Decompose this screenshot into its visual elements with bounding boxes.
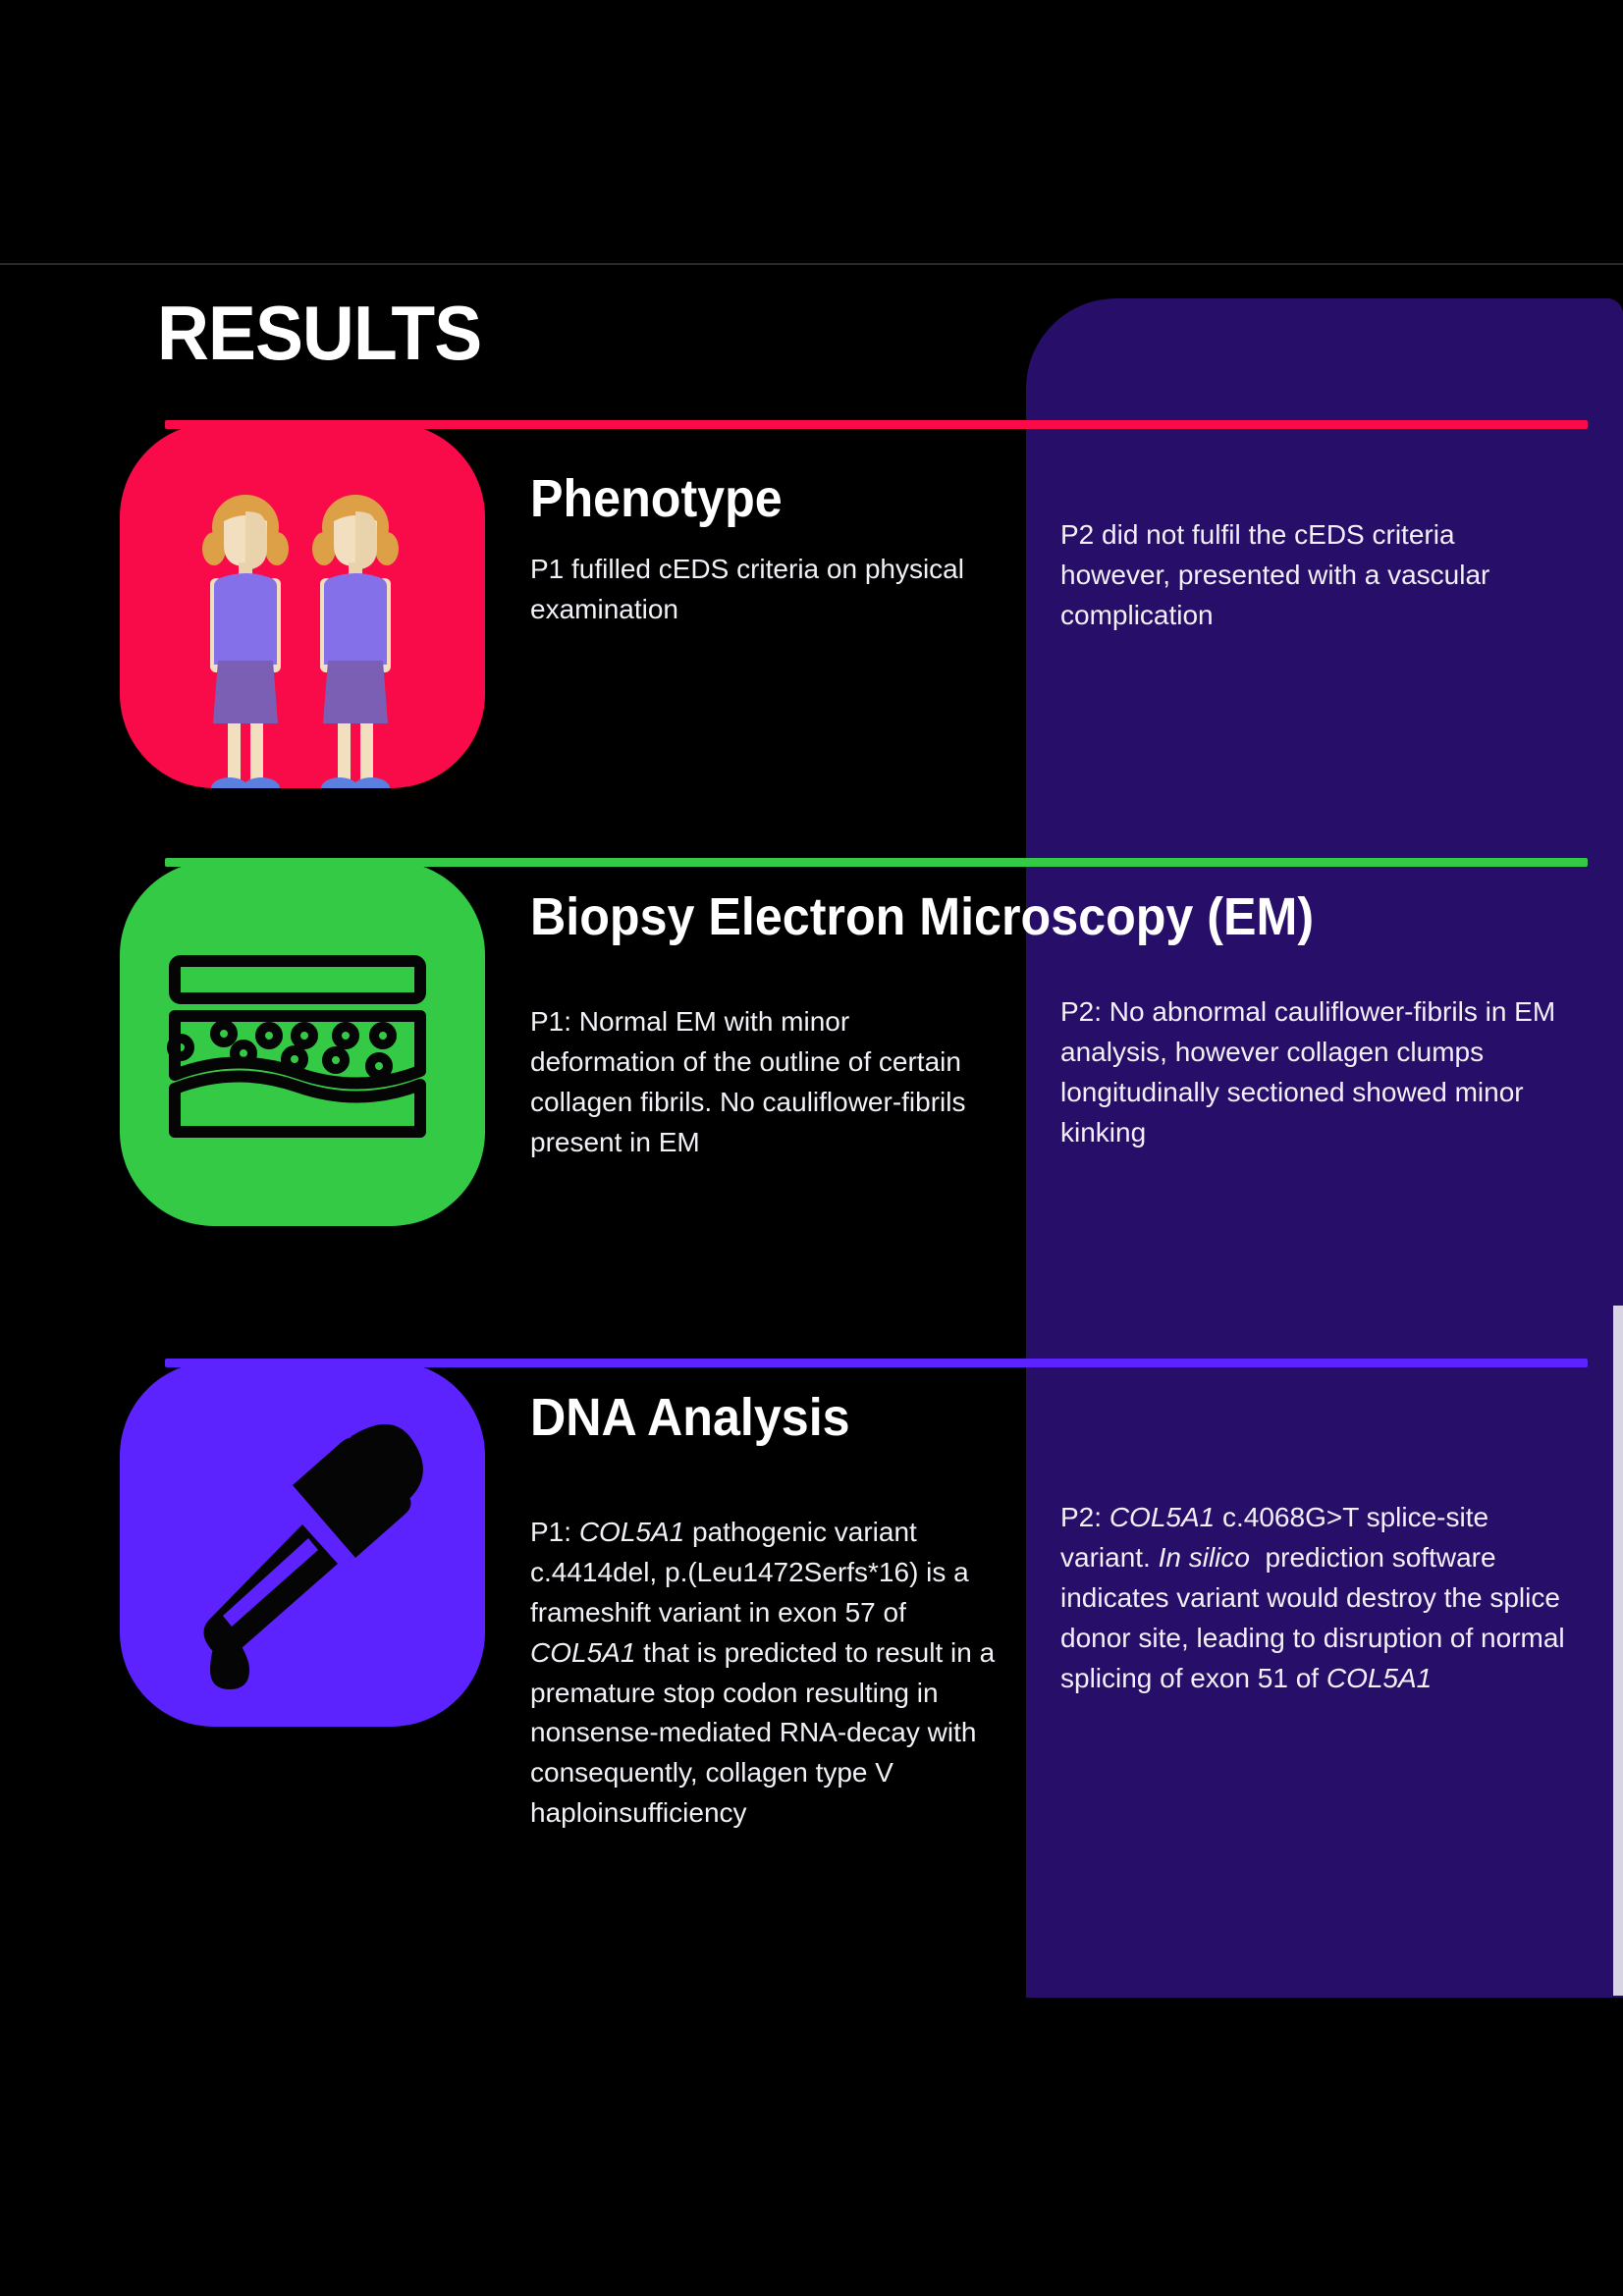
phenotype-p2-text: P2 did not fulfil the cEDS criteria howe… [1060, 515, 1571, 636]
page-title: RESULTS [157, 294, 481, 371]
biopsy-p1-text: P1: Normal EM with minor deformation of … [530, 1002, 1001, 1163]
top-divider [0, 263, 1623, 265]
section-heading-biopsy: Biopsy Electron Microscopy (EM) [530, 889, 1314, 945]
dna-p1-text: P1: COL5A1 pathogenic variant c.4414del,… [530, 1513, 1001, 1834]
tissue-layers-icon [120, 861, 485, 1226]
biopsy-p2-text: P2: No abnormal cauliflower-fibrils in E… [1060, 992, 1571, 1153]
section-heading-dna: DNA Analysis [530, 1390, 850, 1446]
infographic-canvas: RESULTS [0, 0, 1623, 2296]
pipette-dropper-icon [120, 1362, 485, 1727]
phenotype-p1-text: P1 fufilled cEDS criteria on physical ex… [530, 550, 1001, 630]
twin-girls-icon [120, 423, 485, 788]
page-scrollbar[interactable] [1613, 1306, 1623, 1996]
dna-p2-text: P2: COL5A1 c.4068G>T splice-site variant… [1060, 1498, 1571, 1698]
section-heading-phenotype: Phenotype [530, 471, 783, 527]
